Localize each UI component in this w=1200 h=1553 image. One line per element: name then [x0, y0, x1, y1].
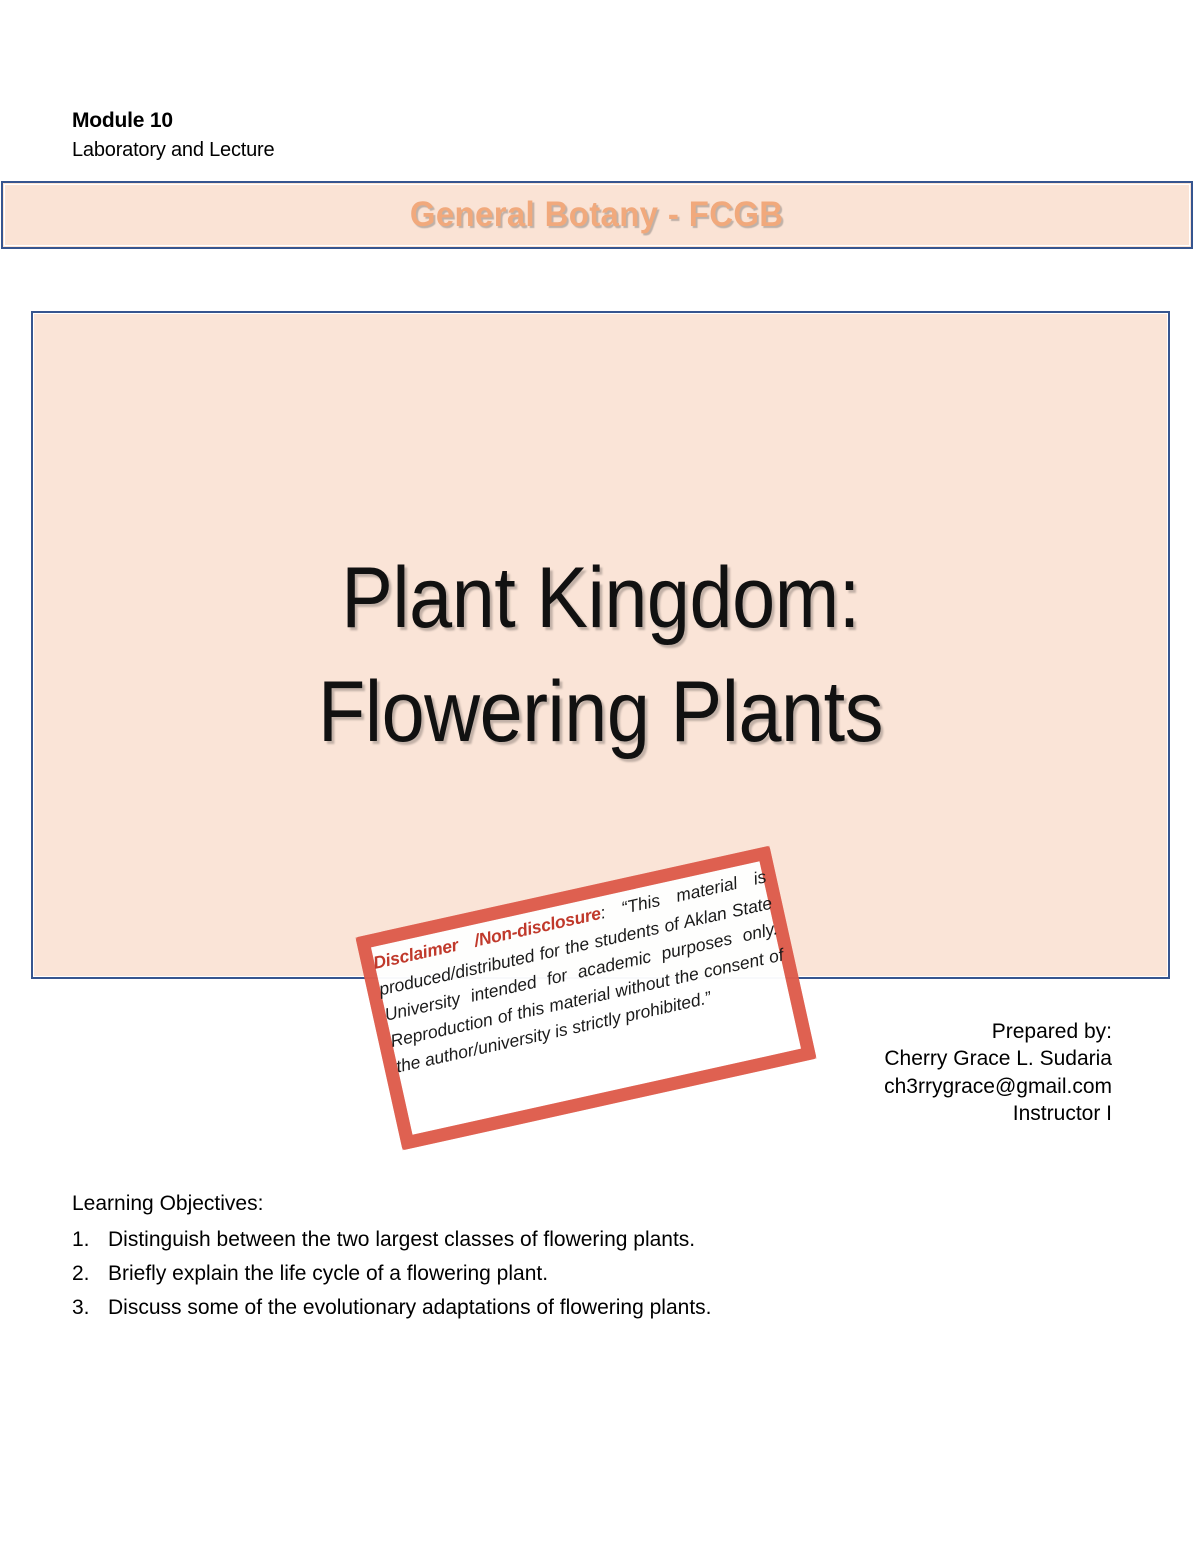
list-item: 2. Briefly explain the life cycle of a f…: [72, 1257, 972, 1291]
page-title: Plant Kingdom: Flowering Plants: [33, 541, 1168, 770]
learning-objectives-heading: Learning Objectives:: [72, 1188, 972, 1220]
list-item-number: 2.: [72, 1257, 108, 1291]
course-banner: General Botany - FCGB: [1, 181, 1193, 249]
module-subtitle: Laboratory and Lecture: [72, 138, 274, 163]
title-box: Plant Kingdom: Flowering Plants: [31, 311, 1170, 979]
author-email: ch3rrygrace@gmail.com: [884, 1073, 1112, 1100]
learning-objectives: Learning Objectives: 1. Distinguish betw…: [72, 1188, 972, 1325]
author-position: Instructor I: [884, 1100, 1112, 1127]
page-title-line-2: Flowering Plants: [90, 655, 1112, 769]
list-item-text: Briefly explain the life cycle of a flow…: [108, 1257, 972, 1291]
prepared-by-label: Prepared by:: [884, 1018, 1112, 1045]
list-item-text: Distinguish between the two largest clas…: [108, 1223, 972, 1257]
list-item: 3. Discuss some of the evolutionary adap…: [72, 1291, 972, 1325]
course-banner-title: General Botany - FCGB: [410, 195, 784, 235]
list-item-number: 3.: [72, 1291, 108, 1325]
page-title-line-1: Plant Kingdom:: [90, 541, 1112, 655]
prepared-by-block: Prepared by: Cherry Grace L. Sudaria ch3…: [884, 1018, 1112, 1127]
author-name: Cherry Grace L. Sudaria: [884, 1045, 1112, 1072]
list-item-number: 1.: [72, 1223, 108, 1257]
module-header: Module 10 Laboratory and Lecture: [72, 108, 274, 163]
list-item: 1. Distinguish between the two largest c…: [72, 1223, 972, 1257]
list-item-text: Discuss some of the evolutionary adaptat…: [108, 1291, 972, 1325]
module-title: Module 10: [72, 108, 274, 134]
